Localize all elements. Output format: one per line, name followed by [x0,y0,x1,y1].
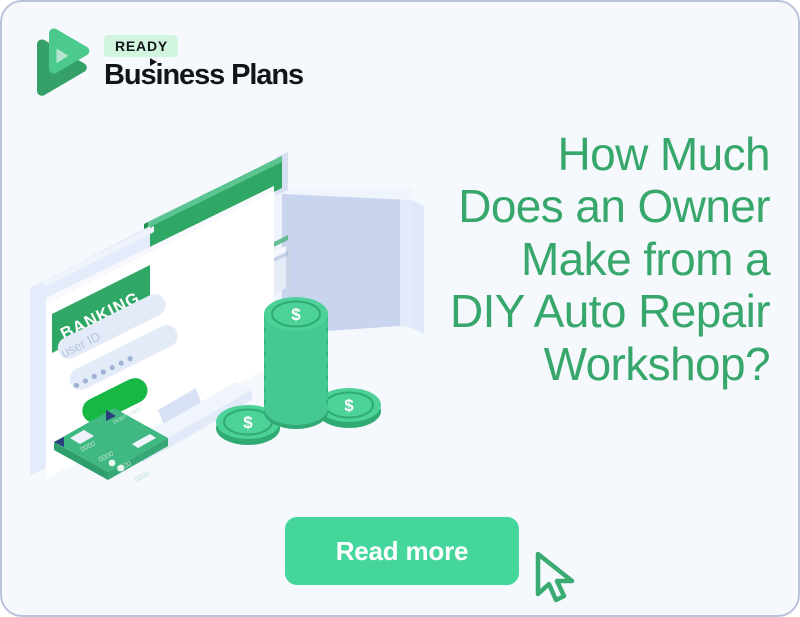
svg-text:$: $ [291,305,301,324]
svg-text:$: $ [344,396,354,415]
svg-text:0000: 0000 [134,471,151,484]
coin-tall-stack: $ [264,297,328,429]
brand-name-text: Business Plans [104,60,303,91]
read-more-button[interactable]: Read more [285,517,519,585]
promo-banner: READY Business Plans How Much Does an Ow… [0,0,800,617]
isometric-banking-vault-illustration: 500 500 500 500 500 BANKI [20,128,432,500]
ready-badge: READY [104,35,178,57]
wordmark-wrap: Business Plans [104,60,303,91]
brand-logo[interactable]: READY Business Plans [28,24,303,102]
play-triangle-icon [150,58,157,66]
arrow-cursor-icon [530,548,592,610]
svg-text:$: $ [243,413,253,432]
brand-wordmark-group: READY Business Plans [104,35,303,91]
ready-business-plans-play-logo-icon [28,24,90,102]
